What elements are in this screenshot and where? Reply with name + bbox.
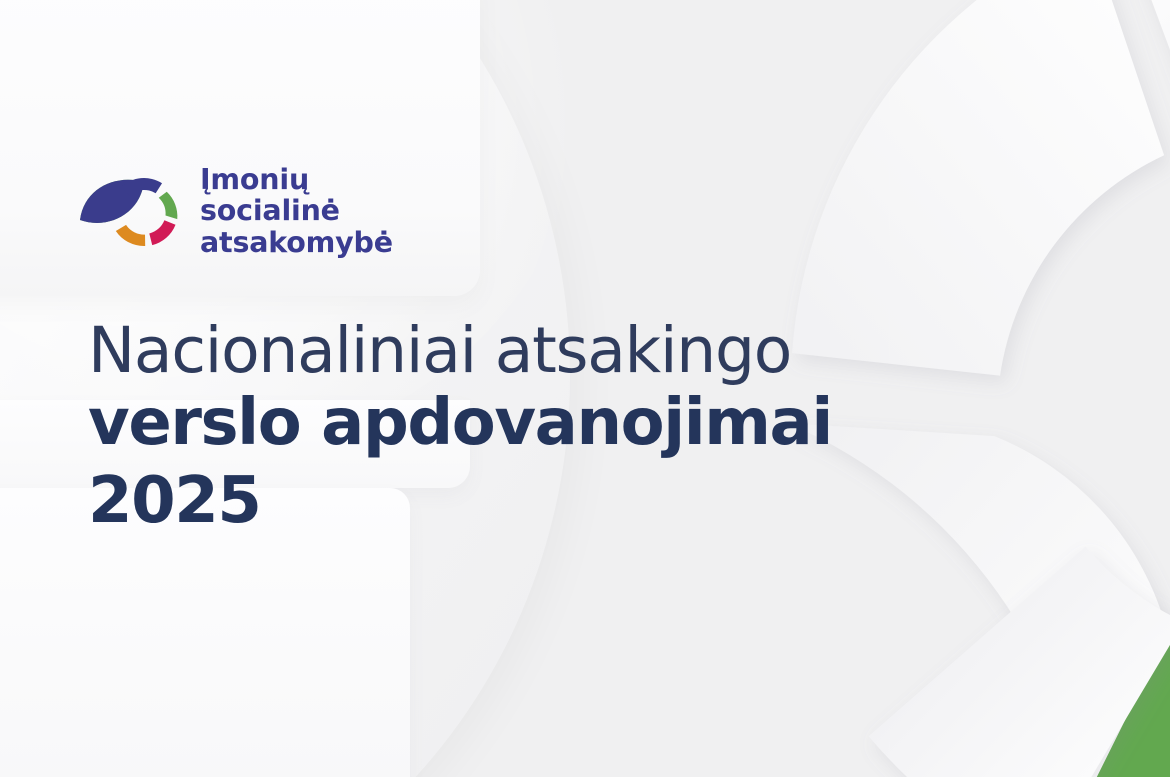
logo-wordmark-line-3: atsakomybė xyxy=(200,227,393,258)
logo-wordmark-line-2: socialinė xyxy=(200,195,393,226)
headline-line-1: Nacionaliniai atsakingo xyxy=(88,318,808,384)
logo-wordmark: Įmonių socialinė atsakomybė xyxy=(200,164,393,258)
poster-canvas: Įmonių socialinė atsakomybė Nacionalinia… xyxy=(0,0,1170,777)
page-title: Nacionaliniai atsakingo verslo apdovanoj… xyxy=(88,318,808,540)
logo: Įmonių socialinė atsakomybė xyxy=(74,152,393,270)
headline-line-2: verslo apdovanojimai xyxy=(88,384,808,462)
logo-wordmark-line-1: Įmonių xyxy=(200,164,393,195)
isa-leaf-and-ring-logo-icon xyxy=(74,152,182,270)
headline-line-3: 2025 xyxy=(88,462,808,540)
